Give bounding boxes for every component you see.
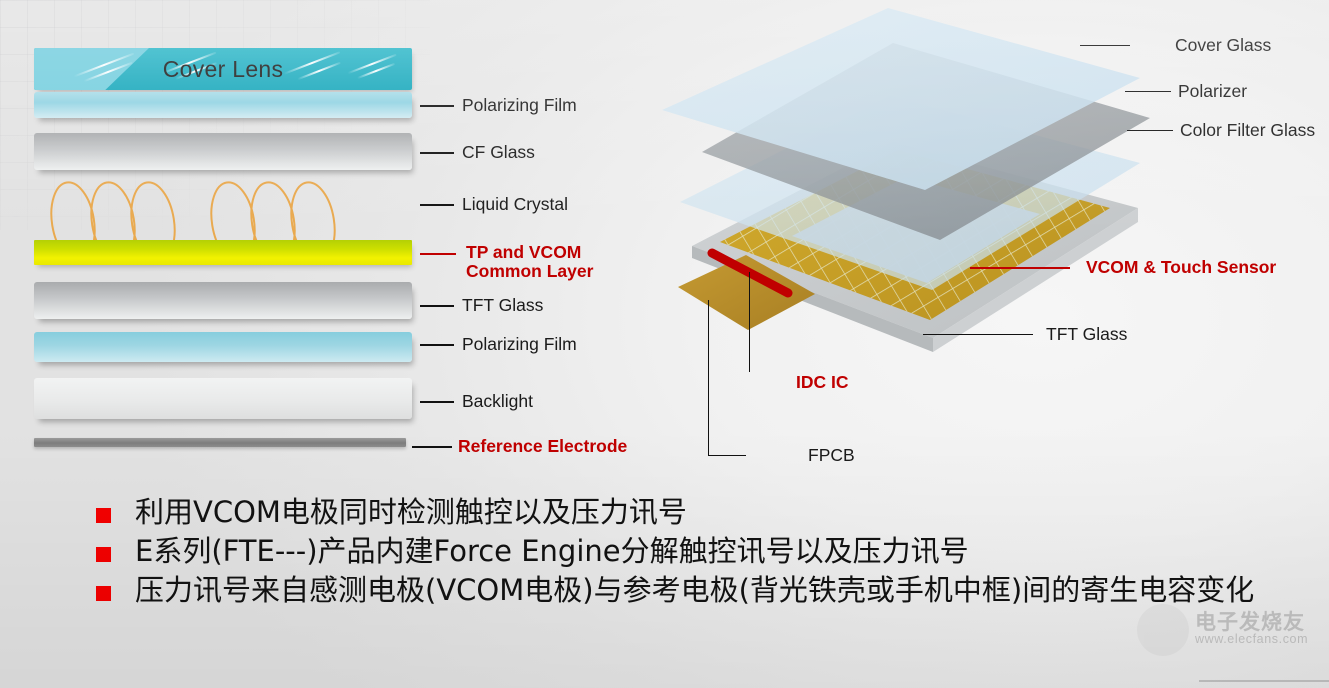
- label-idc-ic: IDC IC: [796, 372, 849, 393]
- leader-vcom-touch-sensor: [970, 267, 1070, 269]
- label-polarizing-film-1: Polarizing Film: [462, 95, 577, 116]
- bullet-marker: [96, 508, 111, 523]
- leader-backlight: [420, 401, 454, 403]
- watermark: 电子发烧友 www.elecfans.com: [1133, 602, 1323, 666]
- layer-polarizing-film-bottom: [34, 332, 412, 362]
- label-reference-electrode: Reference Electrode: [458, 436, 627, 457]
- layer-polarizing-film-top: [34, 92, 412, 118]
- leader-fpcb-horizontal: [708, 455, 746, 456]
- label-polarizer: Polarizer: [1178, 81, 1247, 102]
- exploded-stack-diagram: [640, 0, 1200, 470]
- layer-cf-glass: [34, 133, 412, 170]
- layer-reference-electrode: [34, 438, 406, 447]
- slide-canvas: Cover Lens Polarizing Film CF Glass Liqu…: [0, 0, 1329, 688]
- layer-tp-vcom-common: [34, 240, 412, 265]
- list-item: E系列(FTE---)产品内建Force Engine分解触控讯号以及压力讯号: [0, 533, 1329, 570]
- label-tft-glass-exploded: TFT Glass: [1046, 324, 1127, 345]
- bullet-text: 压力讯号来自感测电极(VCOM电极)与参考电极(背光铁壳或手机中框)间的寄生电容…: [135, 572, 1254, 609]
- layer-tft-glass: [34, 282, 412, 319]
- label-tp-vcom-line1: TP and VCOM: [466, 243, 593, 262]
- label-polarizing-film-2: Polarizing Film: [462, 334, 577, 355]
- label-fpcb: FPCB: [808, 445, 855, 466]
- leader-tft-glass: [420, 305, 454, 307]
- label-vcom-touch-sensor: VCOM & Touch Sensor: [1086, 257, 1276, 278]
- label-cf-glass: CF Glass: [462, 142, 535, 163]
- label-backlight: Backlight: [462, 391, 533, 412]
- label-color-filter-glass: Color Filter Glass: [1180, 120, 1315, 141]
- watermark-rule: [1199, 680, 1329, 682]
- leader-reference-electrode: [412, 446, 452, 448]
- watermark-url: www.elecfans.com: [1195, 632, 1308, 646]
- label-tp-vcom: TP and VCOM Common Layer: [466, 243, 593, 281]
- leader-liquid-crystal: [420, 204, 454, 206]
- bullet-marker: [96, 547, 111, 562]
- list-item: 压力讯号来自感测电极(VCOM电极)与参考电极(背光铁壳或手机中框)间的寄生电容…: [0, 572, 1329, 609]
- leader-tft-glass-exploded: [923, 334, 1033, 335]
- label-tft-glass: TFT Glass: [462, 295, 543, 316]
- leader-fpcb-vertical: [708, 300, 709, 455]
- watermark-logo-icon: [1137, 604, 1189, 656]
- leader-polarizing-film-1: [420, 105, 454, 107]
- label-liquid-crystal: Liquid Crystal: [462, 194, 568, 215]
- leader-polarizing-film-2: [420, 344, 454, 346]
- label-cover-glass: Cover Glass: [1175, 35, 1271, 56]
- bullet-marker: [96, 586, 111, 601]
- layer-backlight: [34, 378, 412, 419]
- leader-cf-glass: [420, 152, 454, 154]
- bullet-text: E系列(FTE---)产品内建Force Engine分解触控讯号以及压力讯号: [135, 533, 969, 570]
- list-item: 利用VCOM电极同时检测触控以及压力讯号: [0, 494, 1329, 531]
- leader-polarizer: [1125, 91, 1171, 92]
- leader-idc-ic: [749, 272, 750, 372]
- cover-lens-label: Cover Lens: [34, 48, 412, 90]
- bullet-text: 利用VCOM电极同时检测触控以及压力讯号: [135, 494, 687, 531]
- bullet-list: 利用VCOM电极同时检测触控以及压力讯号 E系列(FTE---)产品内建Forc…: [0, 494, 1329, 611]
- leader-color-filter-glass: [1127, 130, 1173, 131]
- layer-cover-lens: Cover Lens: [34, 48, 412, 90]
- leader-tp-vcom: [420, 253, 456, 255]
- leader-cover-glass: [1080, 45, 1130, 46]
- label-tp-vcom-line2: Common Layer: [466, 262, 593, 281]
